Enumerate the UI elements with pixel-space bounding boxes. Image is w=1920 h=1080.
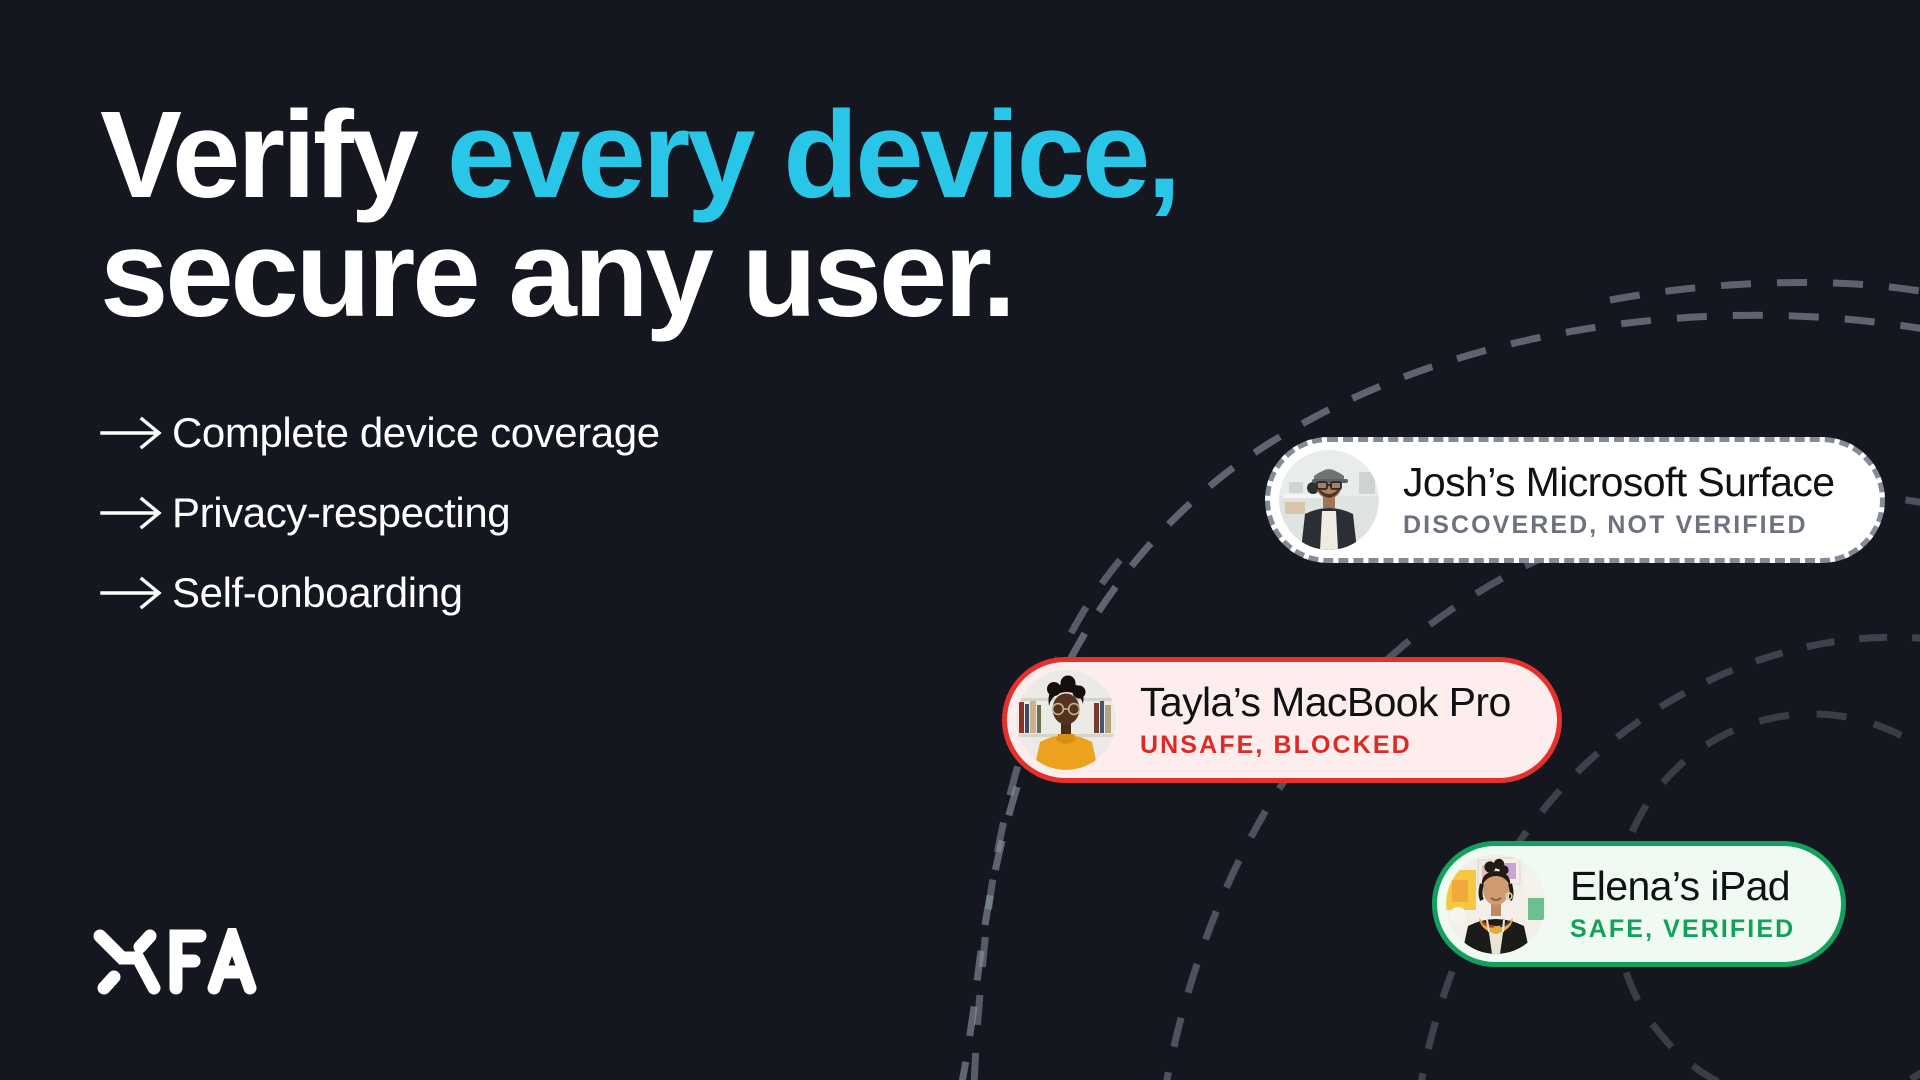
list-item-label: Complete device coverage (172, 409, 660, 457)
list-item: Privacy-respecting (100, 489, 1140, 537)
card-text: Josh’s Microsoft Surface DISCOVERED, NOT… (1403, 460, 1834, 539)
avatar (1016, 670, 1116, 770)
left-content-column: Verify every device, secure any user. Co… (100, 96, 1140, 617)
avatar (1446, 854, 1546, 954)
status-badge: SAFE, VERIFIED (1570, 914, 1795, 944)
headline-line-1: Verify every device, (100, 87, 1178, 224)
device-card-josh[interactable]: Josh’s Microsoft Surface DISCOVERED, NOT… (1265, 437, 1885, 563)
headline-accent: every device, (447, 87, 1178, 224)
arrow-right-icon (100, 416, 172, 450)
xfa-logo (92, 928, 258, 996)
arrow-right-icon (100, 496, 172, 530)
device-name: Tayla’s MacBook Pro (1140, 680, 1511, 725)
card-text: Tayla’s MacBook Pro UNSAFE, BLOCKED (1140, 680, 1511, 759)
arrow-right-icon (100, 576, 172, 610)
page-title: Verify every device, secure any user. (100, 96, 1140, 335)
device-card-tayla[interactable]: Tayla’s MacBook Pro UNSAFE, BLOCKED (1002, 657, 1562, 783)
list-item: Complete device coverage (100, 409, 1140, 457)
list-item-label: Privacy-respecting (172, 489, 510, 537)
device-name: Elena’s iPad (1570, 864, 1795, 909)
marketing-slide: Verify every device, secure any user. Co… (0, 0, 1920, 1080)
device-card-elena[interactable]: Elena’s iPad SAFE, VERIFIED (1432, 841, 1846, 967)
list-item-label: Self-onboarding (172, 569, 463, 617)
list-item: Self-onboarding (100, 569, 1140, 617)
card-text: Elena’s iPad SAFE, VERIFIED (1570, 864, 1795, 943)
feature-bullet-list: Complete device coverage Privacy-respect… (100, 409, 1140, 617)
device-name: Josh’s Microsoft Surface (1403, 460, 1834, 505)
status-badge: DISCOVERED, NOT VERIFIED (1403, 510, 1834, 540)
headline-plain: Verify (100, 87, 447, 224)
avatar (1279, 450, 1379, 550)
headline-line-2: secure any user. (100, 206, 1013, 343)
status-badge: UNSAFE, BLOCKED (1140, 730, 1511, 760)
